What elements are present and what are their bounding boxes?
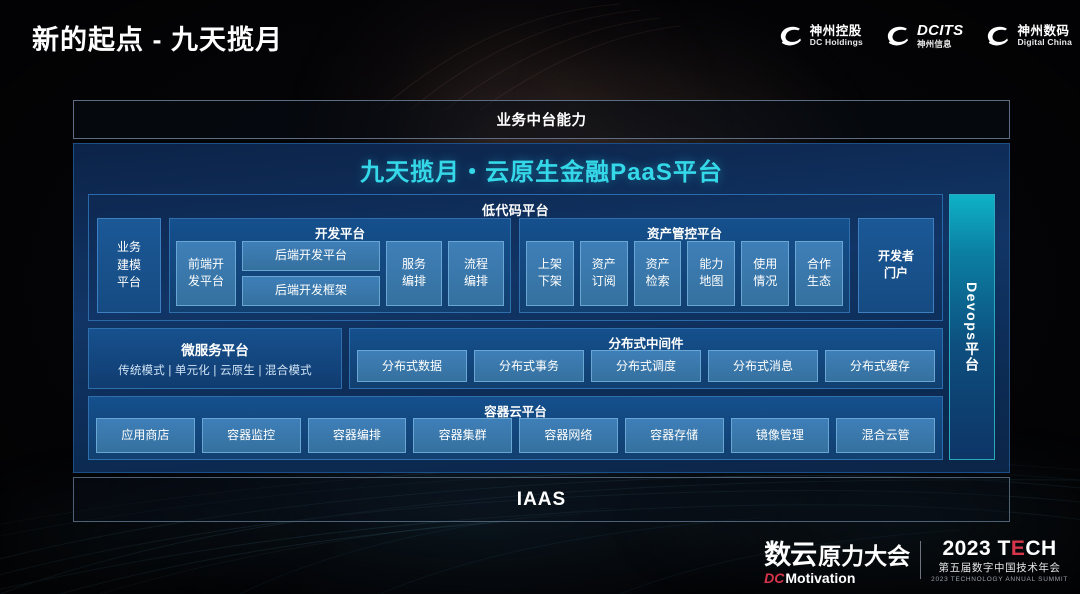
container-network-card[interactable]: 容器网络 <box>519 418 618 453</box>
container-orchestration-card[interactable]: 容器编排 <box>308 418 407 453</box>
logo-name-en: DC Holdings <box>810 38 863 47</box>
logo-name-cn: DCITS <box>917 23 964 39</box>
swirl-logo-icon <box>885 23 911 49</box>
swirl-logo-icon <box>778 23 804 49</box>
brand-logo-group: 神州控股 DC Holdings DCITS 神州信息 <box>778 23 1072 49</box>
page-title: 新的起点 - 九天揽月 <box>32 18 283 57</box>
lowcode-platform-section: 低代码平台 业务 建模 平台 开发平台 前端开 发平台 后端开发平台 后端开发框… <box>88 194 943 321</box>
microservice-platform-card[interactable]: 微服务平台 传统模式 | 单元化 | 云原生 | 混合模式 <box>88 328 342 390</box>
logo-name-en: Digital China <box>1017 38 1072 47</box>
conference-name-en-row: DC Motivation <box>764 570 855 586</box>
logo-name-cn: 神州控股 <box>810 25 863 39</box>
conference-name-en-dc: DC <box>764 570 784 586</box>
conference-year-post: CH <box>1025 537 1056 561</box>
microservice-platform-subtitle: 传统模式 | 单元化 | 云原生 | 混合模式 <box>118 362 312 378</box>
asset-search-card[interactable]: 资产 检索 <box>634 241 682 306</box>
developer-portal-card[interactable]: 开发者 门户 <box>858 218 934 313</box>
dev-platform-header: 开发平台 <box>170 219 510 242</box>
dev-platform-row: 前端开 发平台 后端开发平台 后端开发框架 服务 编排 流程 编排 <box>176 241 504 306</box>
business-middle-platform-label: 业务中台能力 <box>497 109 587 130</box>
conference-year-row: 2023 T E CH <box>942 537 1056 561</box>
container-storage-card[interactable]: 容器存储 <box>625 418 724 453</box>
asset-subscription-card[interactable]: 资产 订阅 <box>580 241 628 306</box>
container-monitor-card[interactable]: 容器监控 <box>202 418 301 453</box>
iaas-label: IAAS <box>517 489 566 511</box>
service-orchestration-card[interactable]: 服务 编排 <box>386 241 442 306</box>
conference-year-accent: E <box>1011 537 1026 561</box>
swirl-logo-icon <box>985 23 1011 49</box>
lowcode-platform-row: 业务 建模 平台 开发平台 前端开 发平台 后端开发平台 后端开发框架 服务 编… <box>97 218 934 313</box>
dev-platform-group: 开发平台 前端开 发平台 后端开发平台 后端开发框架 服务 编排 流程 编排 <box>169 218 511 313</box>
lowcode-platform-header: 低代码平台 <box>89 195 942 219</box>
distributed-messaging-card[interactable]: 分布式消息 <box>708 350 818 383</box>
container-cloud-platform-row: 应用商店 容器监控 容器编排 容器集群 容器网络 容器存储 镜像管理 混合云管 <box>96 418 935 453</box>
image-management-card[interactable]: 镜像管理 <box>731 418 830 453</box>
distributed-scheduling-card[interactable]: 分布式调度 <box>591 350 701 383</box>
conference-name-block: 数云 原力大会 DC Motivation <box>764 533 910 586</box>
slide-header: 新的起点 - 九天揽月 神州控股 DC Holdings DCITS <box>0 0 1080 78</box>
container-cluster-card[interactable]: 容器集群 <box>413 418 512 453</box>
logo-text: DCITS 神州信息 <box>917 23 964 48</box>
conference-year-block: 2023 T E CH 第五届数字中国技术年会 2023 TECHNOLOGY … <box>931 537 1068 583</box>
distributed-transaction-card[interactable]: 分布式事务 <box>474 350 584 383</box>
backend-dev-platform-card[interactable]: 后端开发平台 <box>242 241 380 271</box>
paas-platform-title: 九天揽月・云原生金融PaaS平台 <box>360 152 723 187</box>
conference-subtitle-cn: 第五届数字中国技术年会 <box>939 560 1061 575</box>
asset-listing-card[interactable]: 上架 下架 <box>526 241 574 306</box>
app-store-card[interactable]: 应用商店 <box>96 418 195 453</box>
distributed-cache-card[interactable]: 分布式缓存 <box>825 350 935 383</box>
process-orchestration-card[interactable]: 流程 编排 <box>448 241 504 306</box>
hybrid-cloud-management-card[interactable]: 混合云管 <box>836 418 935 453</box>
conference-subtitle-en: 2023 TECHNOLOGY ANNUAL SUMMIT <box>931 576 1068 583</box>
platform-layer-stack: 低代码平台 业务 建模 平台 开发平台 前端开 发平台 后端开发平台 后端开发框… <box>88 194 943 460</box>
logo-dc-holdings: 神州控股 DC Holdings <box>778 23 863 49</box>
microservice-platform-title: 微服务平台 <box>181 339 249 359</box>
frontend-dev-platform-card[interactable]: 前端开 发平台 <box>176 241 236 306</box>
paas-platform-title-row: 九天揽月・云原生金融PaaS平台 <box>74 144 1009 194</box>
logo-name-cn: 神州数码 <box>1017 25 1072 39</box>
logo-text: 神州控股 DC Holdings <box>810 25 863 48</box>
backend-card-stack: 后端开发平台 后端开发框架 <box>242 241 380 306</box>
logo-dcits: DCITS 神州信息 <box>885 23 964 49</box>
conference-year-pre: 2023 T <box>942 537 1010 561</box>
conference-logo: 数云 原力大会 DC Motivation 2023 T E CH 第五届数字中… <box>764 533 1068 586</box>
usage-status-card[interactable]: 使用 情况 <box>741 241 789 306</box>
asset-control-platform-row: 上架 下架 资产 订阅 资产 检索 能力 地图 使用 情况 合作 生态 <box>526 241 843 306</box>
devops-platform-label: Devops平台 <box>962 282 982 373</box>
distributed-middleware-row: 分布式数据 分布式事务 分布式调度 分布式消息 分布式缓存 <box>357 350 935 383</box>
distributed-middleware-section: 分布式中间件 分布式数据 分布式事务 分布式调度 分布式消息 分布式缓存 <box>349 328 943 390</box>
conference-divider <box>920 541 921 579</box>
asset-control-platform-group: 资产管控平台 上架 下架 资产 订阅 资产 检索 能力 地图 使用 情况 合作 … <box>519 218 850 313</box>
logo-digital-china: 神州数码 Digital China <box>985 23 1072 49</box>
capability-map-card[interactable]: 能力 地图 <box>687 241 735 306</box>
backend-dev-framework-card[interactable]: 后端开发框架 <box>242 276 380 306</box>
iaas-bar: IAAS <box>73 477 1010 522</box>
distributed-middleware-header: 分布式中间件 <box>350 329 942 352</box>
paas-platform-panel: 九天揽月・云原生金融PaaS平台 低代码平台 业务 建模 平台 开发平台 前端开… <box>73 143 1010 473</box>
logo-name-en: 神州信息 <box>917 40 964 49</box>
devops-platform-bar[interactable]: Devops平台 <box>949 194 995 460</box>
conference-name-cn-row: 数云 原力大会 <box>764 533 910 572</box>
conference-name-en-rest: Motivation <box>785 570 855 586</box>
microservice-middleware-row: 微服务平台 传统模式 | 单元化 | 云原生 | 混合模式 分布式中间件 分布式… <box>88 328 943 390</box>
business-modeling-platform-card[interactable]: 业务 建模 平台 <box>97 218 161 313</box>
partner-ecosystem-card[interactable]: 合作 生态 <box>795 241 843 306</box>
paas-platform-body: 低代码平台 业务 建模 平台 开发平台 前端开 发平台 后端开发平台 后端开发框… <box>88 194 995 460</box>
slide-root: 新的起点 - 九天揽月 神州控股 DC Holdings DCITS <box>0 0 1080 594</box>
business-middle-platform-bar: 业务中台能力 <box>73 100 1010 139</box>
conference-name-cn-1: 数云 <box>764 533 816 572</box>
asset-control-platform-header: 资产管控平台 <box>520 219 849 242</box>
distributed-data-card[interactable]: 分布式数据 <box>357 350 467 383</box>
logo-text: 神州数码 Digital China <box>1017 25 1072 48</box>
conference-name-cn-2: 原力大会 <box>818 537 910 571</box>
container-cloud-platform-header: 容器云平台 <box>89 397 942 420</box>
container-cloud-platform-section: 容器云平台 应用商店 容器监控 容器编排 容器集群 容器网络 容器存储 镜像管理… <box>88 396 943 460</box>
